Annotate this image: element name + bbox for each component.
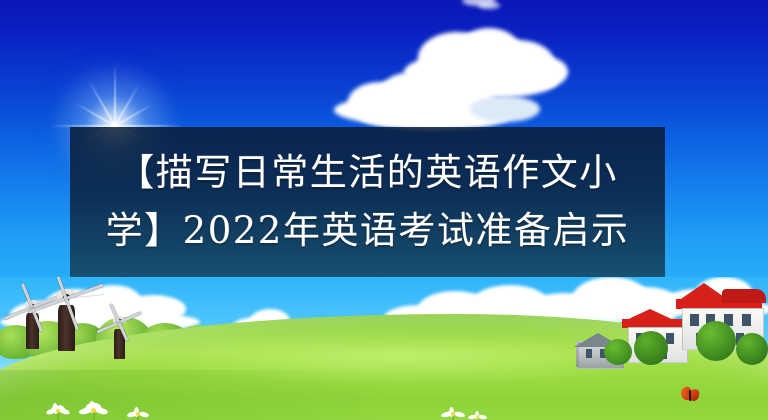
daisy-flower-icon [468,411,488,420]
title-line-2: 学】2022年英语考试准备启示 [106,202,630,260]
banner-image: 【描写日常生活的英语作文小 学】2022年英语考试准备启示 [0,0,768,420]
tree-icon [634,331,668,365]
daisy-flower-icon [440,407,466,420]
landscape [0,277,768,420]
sun-flare-icon [114,64,116,126]
cloud-wisp [478,2,500,9]
title-line-1: 【描写日常生活的英语作文小 [117,144,618,202]
butterfly-icon [681,387,703,405]
windmill-icon [106,319,146,359]
title-text-container: 【描写日常生活的英语作文小 学】2022年英语考试准备启示 [70,127,665,277]
daisy-flower-icon [78,401,110,420]
daisy-flower-icon [126,407,150,420]
tree-icon [736,333,768,365]
tree-icon [604,339,632,365]
windmill-icon [44,293,104,351]
daisy-flower-icon [44,403,72,420]
tree-icon [696,321,736,361]
